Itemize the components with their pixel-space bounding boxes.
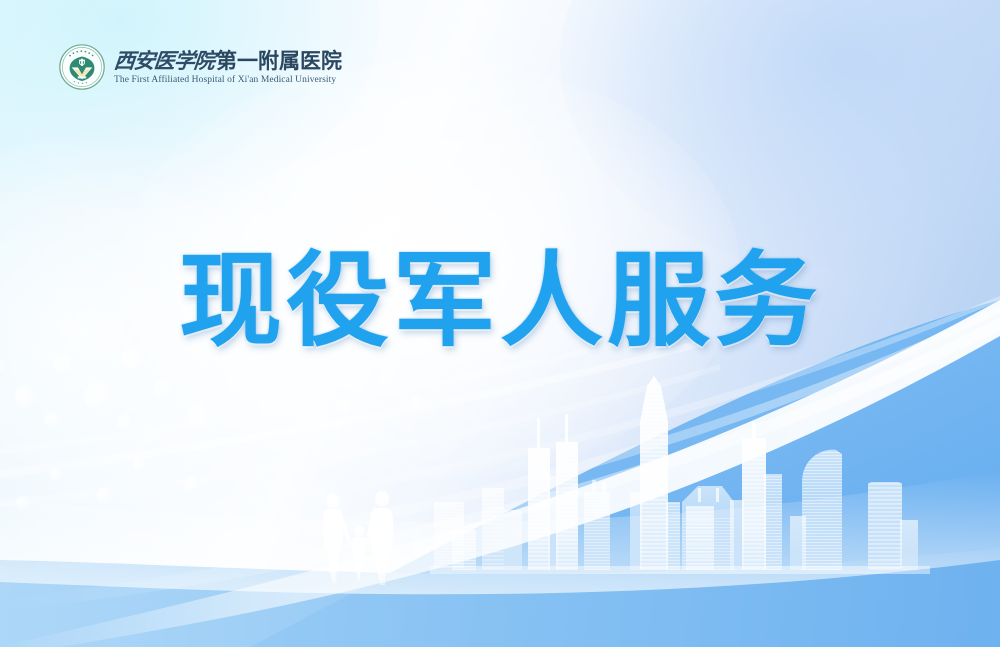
hospital-name-cn-script: 西安医学院 [113, 50, 215, 71]
hospital-name-en: The First Affiliated Hospital of Xi'an M… [114, 75, 342, 85]
hospital-name-cn-bold: 第一附属医院 [216, 51, 342, 72]
page-title-text: 现役军人服务 [179, 246, 821, 357]
family-silhouette [312, 489, 404, 587]
bokeh-light-particles [0, 228, 532, 596]
background-glow-center [120, 60, 740, 480]
hospital-name-cn: 西安医学院 第一附属医院 [114, 50, 342, 72]
background-glow-top-left [0, 0, 380, 210]
hospital-logo-lockup: 西安医学院 第一附属医院 The First Affiliated Hospit… [58, 43, 342, 91]
hospital-name-block: 西安医学院 第一附属医院 The First Affiliated Hospit… [114, 50, 342, 85]
presentation-slide: 西安医学院 第一附属医院 The First Affiliated Hospit… [0, 0, 1000, 647]
hospital-crest-emblem [58, 43, 106, 91]
background-glow-left [0, 140, 340, 520]
page-title: 现役军人服务 [0, 246, 1000, 357]
light-sweep-curves [0, 0, 1000, 647]
city-skyline-silhouette [430, 370, 930, 585]
background-glow-top-right [560, 0, 1000, 270]
